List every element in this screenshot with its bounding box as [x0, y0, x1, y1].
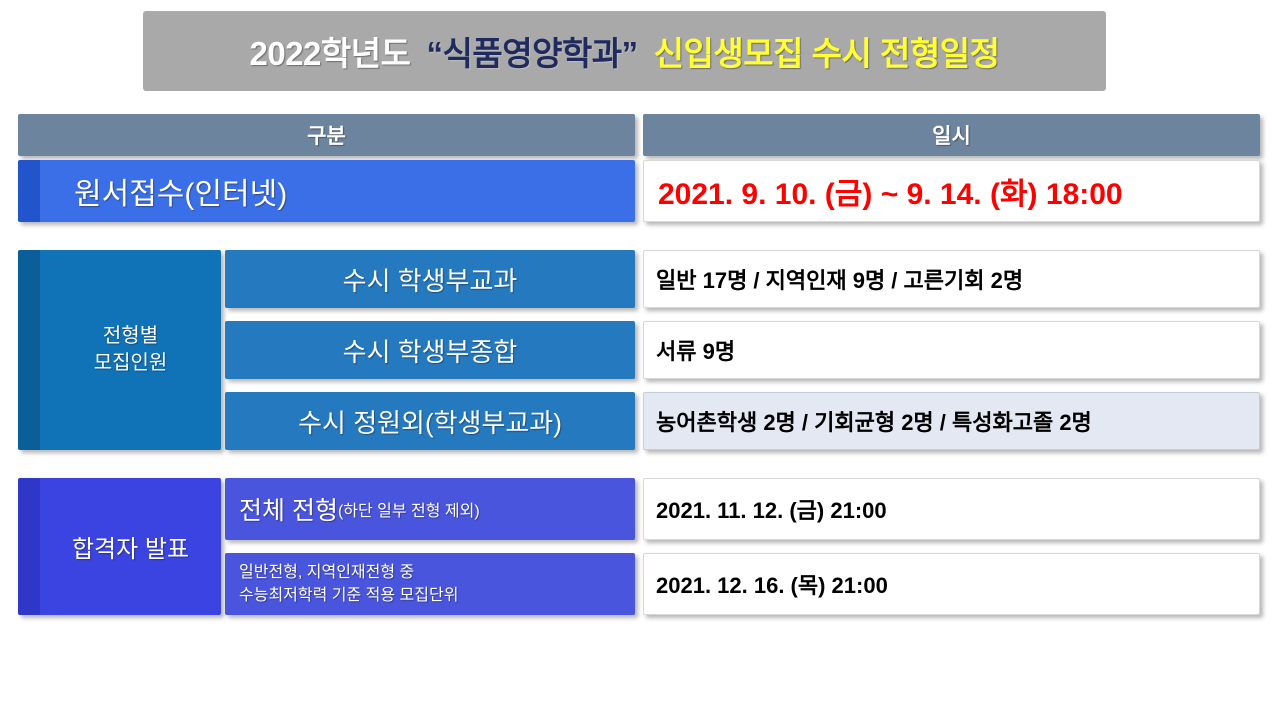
row-label-application: 원서접수(인터넷) — [18, 160, 635, 222]
row-subject-announcement-minimum: 일반전형, 지역인재전형 중 수능최저학력 기준 적용 모집단위 — [225, 553, 635, 615]
row-value-application-date-text: 2021. 9. 10. (금) ~ 9. 14. (화) 18:00 — [658, 169, 1123, 213]
row-label-quota-line2: 모집인원 — [94, 350, 168, 377]
row-value-quota-gyogwa: 일반 17명 / 지역인재 9명 / 고른기회 2명 — [643, 250, 1260, 308]
row-subject-quota-gyogwa: 수시 학생부교과 — [225, 250, 635, 308]
row-subject-announcement-minimum-line2: 수능최저학력 기준 적용 모집단위 — [239, 584, 458, 607]
row-value-announcement-all: 2021. 11. 12. (금) 21:00 — [643, 478, 1260, 540]
row-subject-announcement-all-main: 전체 전형 — [239, 491, 338, 527]
row-value-application-date: 2021. 9. 10. (금) ~ 9. 14. (화) 18:00 — [643, 160, 1260, 222]
row-subject-quota-jonghap-text: 수시 학생부종합 — [343, 332, 518, 369]
row-value-announcement-all-text: 2021. 11. 12. (금) 21:00 — [656, 493, 887, 525]
table-header-col-category: 구분 — [18, 114, 635, 156]
row-value-announcement-minimum: 2021. 12. 16. (목) 21:00 — [643, 553, 1260, 615]
row-subject-quota-jeongwonoe-text: 수시 정원외(학생부교과) — [298, 403, 562, 440]
row-value-quota-jeongwonoe-text: 농어촌학생 2명 / 기회균형 2명 / 특성화고졸 2명 — [656, 405, 1092, 437]
row-label-announcement-text: 합격자 발표 — [72, 529, 189, 564]
page-title: 2022학년도“식품영양학과”신입생모집 수시 전형일정 — [250, 27, 1000, 75]
title-year: 2022학년도 — [250, 35, 411, 72]
row-subject-announcement-minimum-line1: 일반전형, 지역인재전형 중 — [239, 561, 414, 584]
row-subject-quota-jeongwonoe: 수시 정원외(학생부교과) — [225, 392, 635, 450]
row-label-announcement: 합격자 발표 — [18, 478, 221, 615]
row-subject-quota-jonghap: 수시 학생부종합 — [225, 321, 635, 379]
table-header-col-datetime: 일시 — [643, 114, 1260, 156]
row-label-application-text: 원서접수(인터넷) — [74, 169, 287, 213]
page-title-banner: 2022학년도“식품영양학과”신입생모집 수시 전형일정 — [143, 11, 1106, 91]
row-value-announcement-minimum-text: 2021. 12. 16. (목) 21:00 — [656, 568, 888, 600]
row-subject-quota-gyogwa-text: 수시 학생부교과 — [343, 261, 518, 298]
row-subject-announcement-all: 전체 전형(하단 일부 전형 제외) — [225, 478, 635, 540]
table-header-col-datetime-label: 일시 — [932, 120, 971, 150]
row-value-quota-jonghap-text: 서류 9명 — [656, 334, 735, 366]
row-value-quota-jonghap: 서류 9명 — [643, 321, 1260, 379]
title-rest: 신입생모집 수시 전형일정 — [654, 35, 1000, 72]
row-label-quota: 전형별 모집인원 — [18, 250, 221, 450]
row-label-quota-line1: 전형별 — [103, 323, 158, 350]
title-department: “식품영양학과” — [427, 35, 638, 72]
row-subject-announcement-all-note: (하단 일부 전형 제외) — [338, 497, 480, 521]
row-value-quota-jeongwonoe: 농어촌학생 2명 / 기회균형 2명 / 특성화고졸 2명 — [643, 392, 1260, 450]
table-header-col-category-label: 구분 — [307, 120, 346, 150]
row-value-quota-gyogwa-text: 일반 17명 / 지역인재 9명 / 고른기회 2명 — [656, 263, 1023, 295]
